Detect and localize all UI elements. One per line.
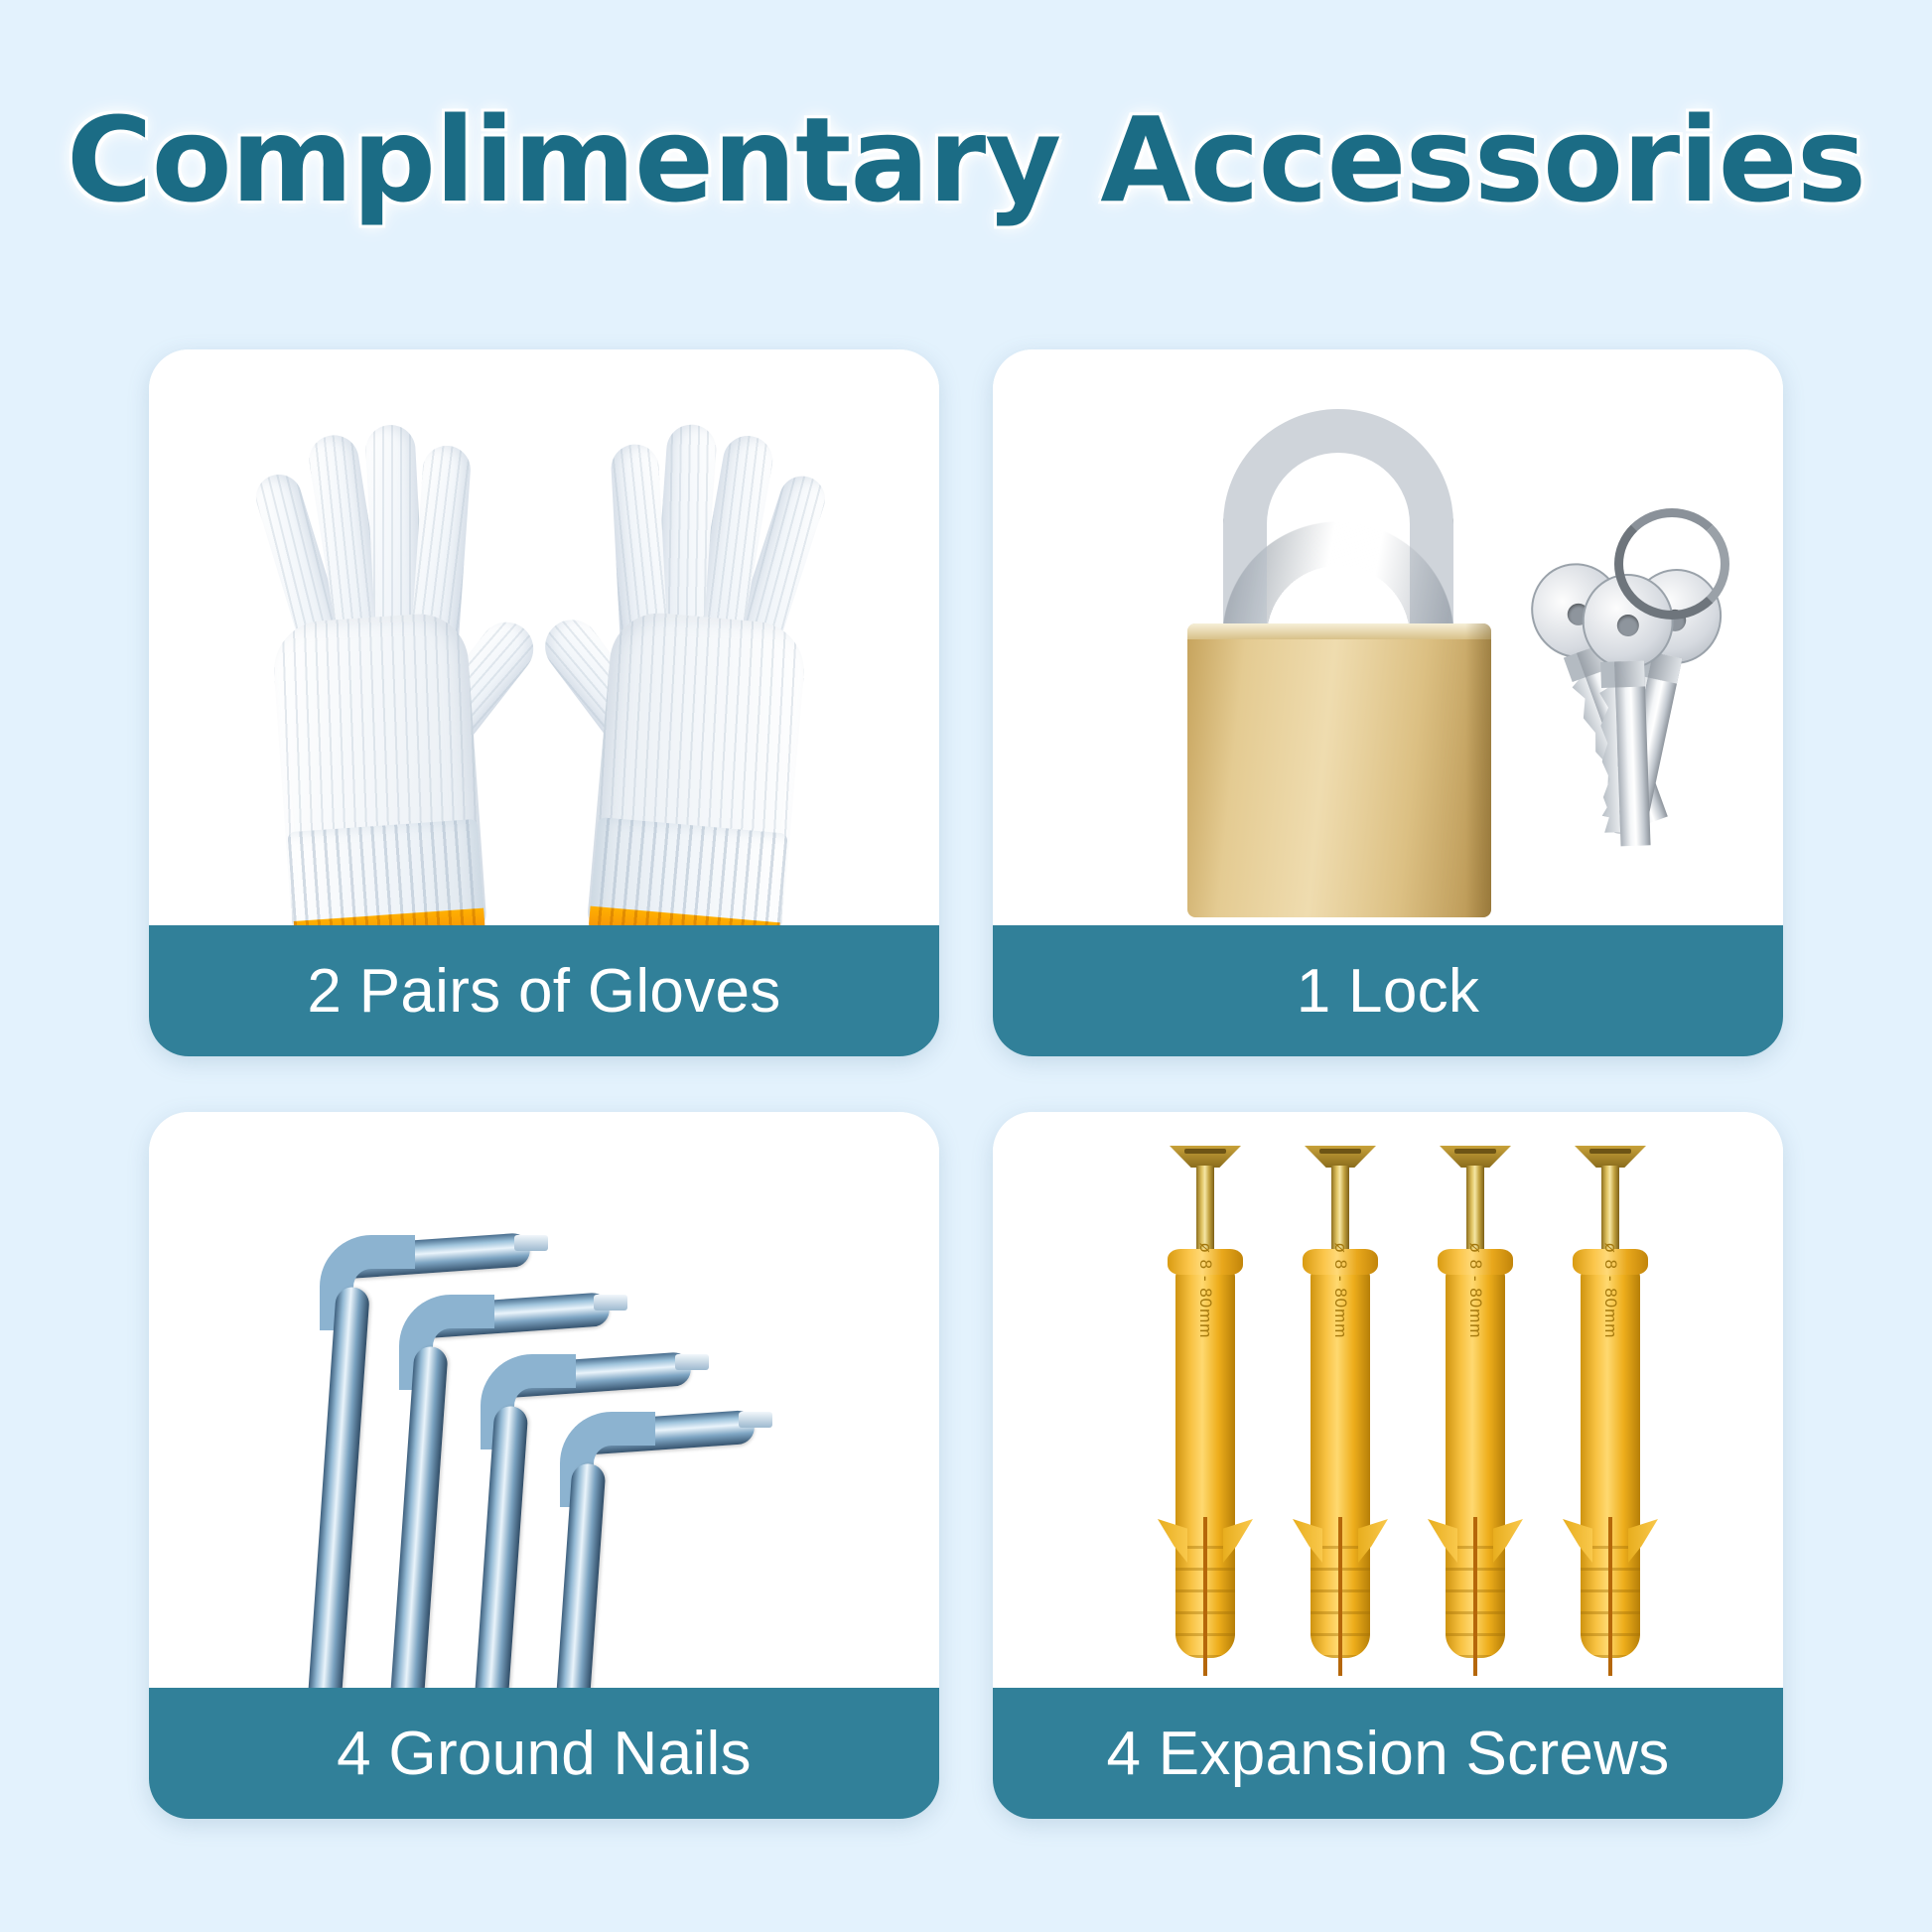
accessory-card-ground-nails[interactable]: 4 Ground Nails — [149, 1112, 939, 1819]
nail-tip — [594, 1295, 627, 1311]
caption-ground-nails: 4 Ground Nails — [149, 1688, 939, 1819]
caption-expansion-screws: 4 Expansion Screws — [993, 1688, 1783, 1819]
anchor-marking-label: ø 8 - 80mm — [1330, 1243, 1350, 1339]
accessory-card-lock[interactable]: 1 Lock — [993, 349, 1783, 1056]
expansion-screws-illustration: ø 8 - 80mm ø 8 - 80mm — [993, 1112, 1783, 1688]
glove-cuff — [287, 819, 485, 925]
anchor-slot — [1608, 1517, 1612, 1676]
glove-left — [227, 381, 513, 925]
expansion-screws-image: ø 8 - 80mm ø 8 - 80mm — [993, 1112, 1783, 1688]
glove-right — [560, 379, 856, 925]
expansion-screw: ø 8 - 80mm — [1293, 1146, 1388, 1662]
nail-tip — [675, 1354, 709, 1370]
nail-tip — [514, 1235, 548, 1251]
padlock-body — [1187, 623, 1491, 917]
accessory-card-expansion-screws[interactable]: ø 8 - 80mm ø 8 - 80mm — [993, 1112, 1783, 1819]
glove-cuff-band — [294, 908, 486, 925]
accessories-grid: 2 Pairs of Gloves — [149, 349, 1783, 1819]
caption-gloves: 2 Pairs of Gloves — [149, 925, 939, 1056]
caption-lock: 1 Lock — [993, 925, 1783, 1056]
glove-cuff — [588, 817, 788, 925]
screw-head — [1575, 1146, 1646, 1168]
anchor-slot — [1203, 1517, 1207, 1676]
nail-tip — [739, 1412, 772, 1428]
expansion-screw: ø 8 - 80mm — [1428, 1146, 1523, 1662]
expansion-screw: ø 8 - 80mm — [1158, 1146, 1253, 1662]
gloves-illustration — [236, 389, 852, 925]
anchor-marking-label: ø 8 - 80mm — [1465, 1243, 1485, 1339]
lock-image — [993, 349, 1783, 925]
anchor-marking-label: ø 8 - 80mm — [1600, 1243, 1620, 1339]
page-title: Complimentary Accessories — [0, 91, 1932, 228]
gloves-image — [149, 349, 939, 925]
accessory-card-gloves[interactable]: 2 Pairs of Gloves — [149, 349, 939, 1056]
screw-head — [1305, 1146, 1376, 1168]
shackle-arc — [1223, 409, 1453, 637]
screw-head — [1440, 1146, 1511, 1168]
anchor-marking-label: ø 8 - 80mm — [1195, 1243, 1215, 1339]
glove-cuff-band — [588, 906, 780, 925]
anchor-slot — [1338, 1517, 1342, 1676]
key-set — [1509, 508, 1777, 886]
padlock-illustration — [993, 349, 1783, 925]
screw-head — [1170, 1146, 1241, 1168]
key-ring — [1614, 508, 1729, 620]
expansion-screw: ø 8 - 80mm — [1563, 1146, 1658, 1662]
anchor-slot — [1473, 1517, 1477, 1676]
